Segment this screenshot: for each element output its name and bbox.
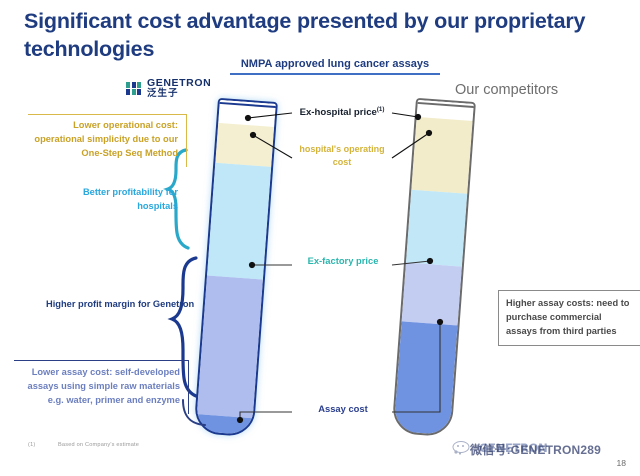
annotation-lower-operational-cost: Lower operational cost: operational simp…	[28, 114, 187, 167]
competitor-tube-fill	[394, 100, 474, 435]
page-number: 18	[616, 458, 626, 468]
callout-hospital-operating-cost: hospital's operating cost	[294, 143, 390, 168]
callout-footnote-marker: (1)	[377, 106, 385, 113]
logo-tiles-icon	[126, 82, 141, 96]
annotation-lower-assay-cost: Lower assay cost: self-developed assays …	[14, 360, 189, 414]
watermark-overlay: 微信号:GENETRON289	[470, 441, 601, 458]
callout-ex-hospital-price-text: Ex-hospital price	[300, 107, 377, 118]
annotation-better-profitability: Better profitability for hospitals	[56, 186, 178, 214]
callout-assay-cost: Assay cost	[296, 402, 390, 415]
tube-segment-assay-cost	[394, 322, 458, 435]
annotation-higher-profit-margin: Higher profit margin for Genetron	[46, 298, 198, 312]
footnote-text: Based on Company's estimate	[58, 442, 139, 448]
nmpa-approved-banner: NMPA approved lung cancer assays	[230, 58, 440, 75]
callout-ex-factory-price: Ex-factory price	[298, 254, 388, 267]
page-title: Significant cost advantage presented by …	[24, 8, 624, 63]
tube-segment-profit-margin	[402, 262, 462, 326]
slide: Significant cost advantage presented by …	[0, 0, 640, 476]
our-competitors-label: Our competitors	[455, 82, 625, 98]
genetron-test-tube	[193, 98, 277, 437]
callout-ex-hospital-price: Ex-hospital price(1)	[296, 106, 388, 120]
genetron-tube-fill	[196, 100, 276, 435]
tube-segment-operating-cost	[411, 116, 472, 193]
genetron-logo: GENETRON 泛生子	[126, 78, 211, 99]
footnote-marker: (1)	[28, 442, 58, 448]
competitor-test-tube	[391, 98, 475, 437]
tube-segment-profitability	[406, 189, 467, 266]
logo-wordmark: GENETRON 泛生子	[147, 78, 211, 99]
footnote: (1)Based on Company's estimate	[28, 442, 139, 448]
tube-segment-profitability	[207, 163, 271, 280]
annotation-higher-assay-costs: Higher assay costs: need to purchase com…	[498, 290, 640, 346]
tube-segment-operating-cost	[215, 123, 274, 167]
tube-segment-assay-cost	[196, 414, 253, 435]
tube-segment-profit-margin	[197, 275, 263, 418]
logo-name-cn: 泛生子	[147, 89, 211, 99]
